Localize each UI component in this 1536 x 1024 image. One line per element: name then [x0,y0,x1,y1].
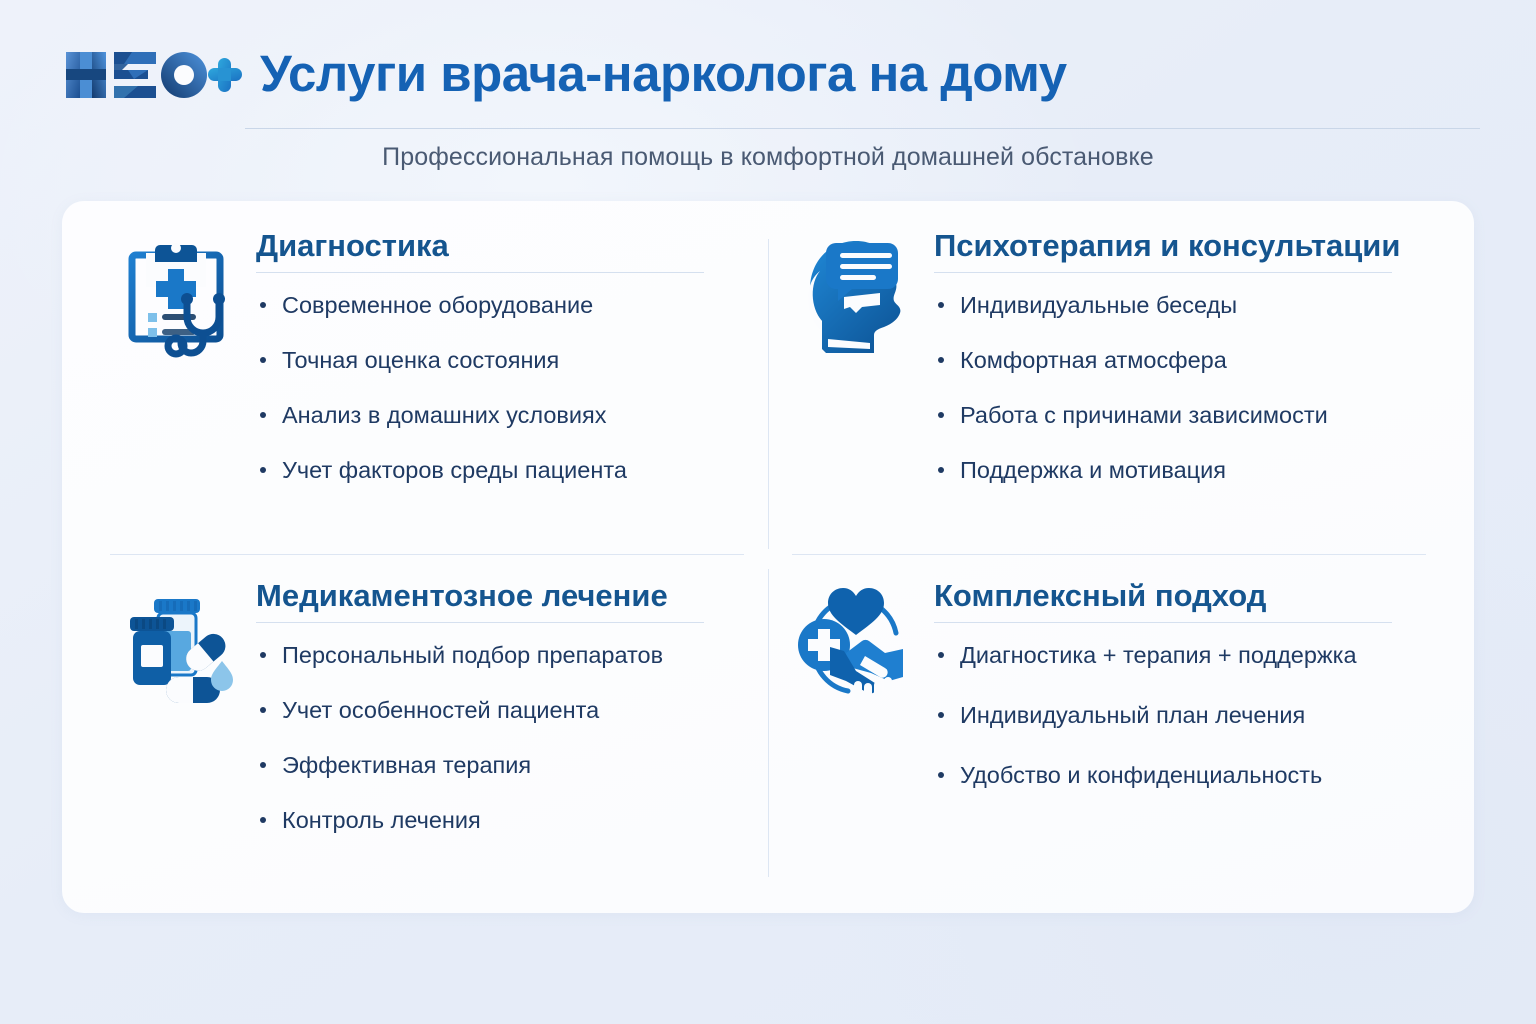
list-item: Диагностика + терапия + поддержка [934,641,1438,669]
list-item: Поддержка и мотивация [934,456,1438,484]
list-item-label: Контроль лечения [282,807,481,833]
bullet-dot-icon [938,412,944,418]
list-item: Контроль лечения [256,806,750,834]
handshake-heart-cross-icon [788,581,920,713]
card-psychotherapy[interactable]: Психотерапия и консультации Индивидуальн… [788,223,1438,484]
list-item-label: Персональный подбор препаратов [282,642,663,668]
list-item: Персональный подбор препаратов [256,641,750,669]
bullet-dot-icon [260,467,266,473]
card-body: Психотерапия и консультации Индивидуальн… [934,223,1438,484]
list-item: Индивидуальные беседы [934,291,1438,319]
cards-panel: Диагностика Современное оборудование Точ… [62,201,1474,913]
bullet-dot-icon [260,817,266,823]
list-item-label: Учет особенностей пациента [282,697,599,723]
list-item-label: Эффективная терапия [282,752,531,778]
bullet-dot-icon [260,412,266,418]
bullet-dot-icon [938,302,944,308]
bullet-list: Персональный подбор препаратов Учет особ… [256,641,750,835]
list-item: Работа с причинами зависимости [934,401,1438,429]
list-item: Комфортная атмосфера [934,346,1438,374]
bullet-list: Диагностика + терапия + поддержка Индиви… [934,641,1438,790]
bullet-dot-icon [260,302,266,308]
bullet-dot-icon [938,712,944,718]
list-item: Анализ в домашних условиях [256,401,750,429]
head-speech-bubble-icon [788,231,920,363]
bullet-dot-icon [260,707,266,713]
list-item-label: Индивидуальные беседы [960,292,1237,318]
card-title-underline [256,272,704,273]
bullet-dot-icon [260,357,266,363]
list-item-label: Точная оценка состояния [282,347,559,373]
infographic-page: Услуги врача-нарколога на дому Профессио… [0,0,1536,1024]
list-item: Современное оборудование [256,291,750,319]
card-title-underline [934,622,1392,623]
divider-horizontal-left [110,554,744,555]
card-complex-approach[interactable]: Комплексный подход Диагностика + терапия… [788,573,1438,821]
bullet-dot-icon [260,762,266,768]
bullet-dot-icon [260,652,266,658]
bullet-dot-icon [938,467,944,473]
bullet-dot-icon [938,357,944,363]
list-item: Учет факторов среды пациента [256,456,750,484]
divider-vertical-bottom [768,569,769,877]
page-title: Услуги врача-нарколога на дому [260,48,1067,102]
list-item-label: Диагностика + терапия + поддержка [960,642,1357,668]
card-title: Комплексный подход [934,579,1438,614]
bullet-dot-icon [938,772,944,778]
list-item: Удобство и конфиденциальность [934,761,1438,789]
bullet-list: Современное оборудование Точная оценка с… [256,291,750,485]
list-item-label: Учет факторов среды пациента [282,457,627,483]
card-body: Комплексный подход Диагностика + терапия… [934,573,1438,821]
card-title: Медикаментозное лечение [256,579,750,614]
pill-bottles-icon [110,581,242,713]
list-item: Точная оценка состояния [256,346,750,374]
clipboard-stethoscope-icon [110,231,242,363]
page-subtitle: Профессиональная помощь в комфортной дом… [0,143,1536,172]
card-body: Медикаментозное лечение Персональный под… [256,573,750,834]
divider-vertical-top [768,239,769,549]
list-item: Учет особенностей пациента [256,696,750,724]
card-medication[interactable]: Медикаментозное лечение Персональный под… [110,573,750,834]
brand-row: Услуги врача-нарколога на дому [62,44,1067,106]
card-title: Психотерапия и консультации [934,229,1438,264]
list-item-label: Современное оборудование [282,292,593,318]
list-item-label: Анализ в домашних условиях [282,402,607,428]
list-item-label: Поддержка и мотивация [960,457,1226,483]
neo-plus-logo-icon [62,44,244,106]
card-title: Диагностика [256,229,750,264]
card-diagnostics[interactable]: Диагностика Современное оборудование Точ… [110,223,750,484]
list-item-label: Комфортная атмосфера [960,347,1227,373]
list-item-label: Работа с причинами зависимости [960,402,1328,428]
list-item-label: Индивидуальный план лечения [960,702,1305,728]
card-title-underline [934,272,1392,273]
header: Услуги врача-нарколога на дому Профессио… [0,0,1536,188]
card-title-underline [256,622,704,623]
title-divider [245,128,1480,129]
divider-horizontal-right [792,554,1426,555]
bullet-dot-icon [938,652,944,658]
list-item-label: Удобство и конфиденциальность [960,762,1322,788]
card-body: Диагностика Современное оборудование Точ… [256,223,750,484]
list-item: Индивидуальный план лечения [934,701,1438,729]
bullet-list: Индивидуальные беседы Комфортная атмосфе… [934,291,1438,485]
list-item: Эффективная терапия [256,751,750,779]
